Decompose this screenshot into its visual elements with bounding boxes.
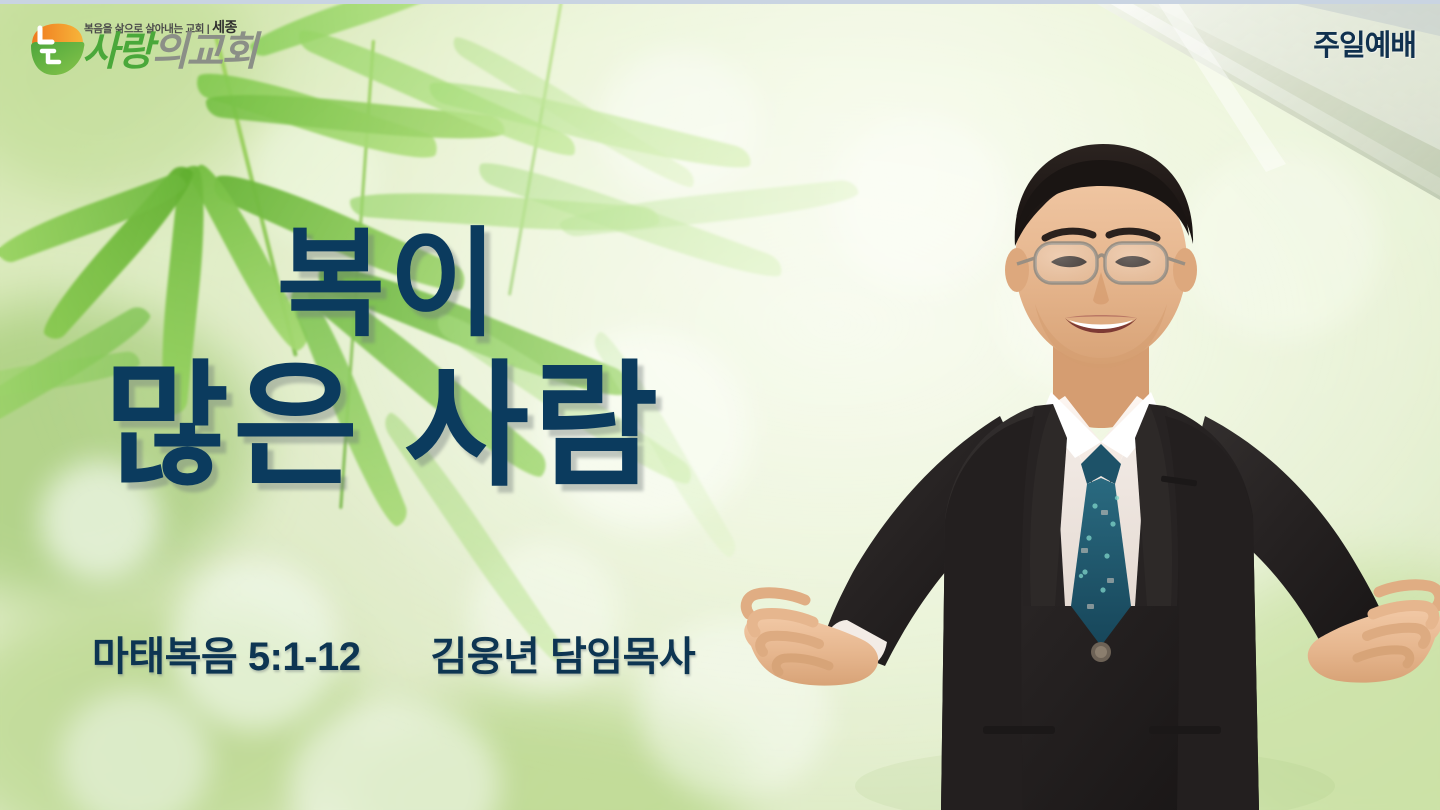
sermon-title: 복이 많은 사람 [0, 226, 760, 494]
pastor-portrait-photo [735, 86, 1440, 810]
church-leaf-logo-icon [26, 20, 88, 82]
sermon-meta-row: 마태복음 5:1-12 김웅년 담임목사 [92, 624, 695, 682]
church-logo: 복음을 삶으로 살아내는 교회 | 세종 사랑의교회 [26, 16, 246, 88]
logo-wordmark: 사랑의교회 [82, 32, 256, 72]
sermon-title-line-2: 많은 사람 [0, 358, 760, 494]
preacher-name: 김웅년 담임목사 [430, 624, 695, 682]
top-edge-strip [0, 0, 1440, 4]
sermon-title-line-1: 복이 [0, 226, 760, 344]
logo-wordmark-gray: 의교회 [152, 30, 256, 74]
sermon-title-slide: 주일예배 [0, 0, 1440, 810]
service-type-label: 주일예배 [1313, 22, 1416, 64]
scripture-reference: 마태복음 5:1-12 [92, 624, 360, 682]
logo-wordmark-green: 사랑 [82, 30, 152, 74]
